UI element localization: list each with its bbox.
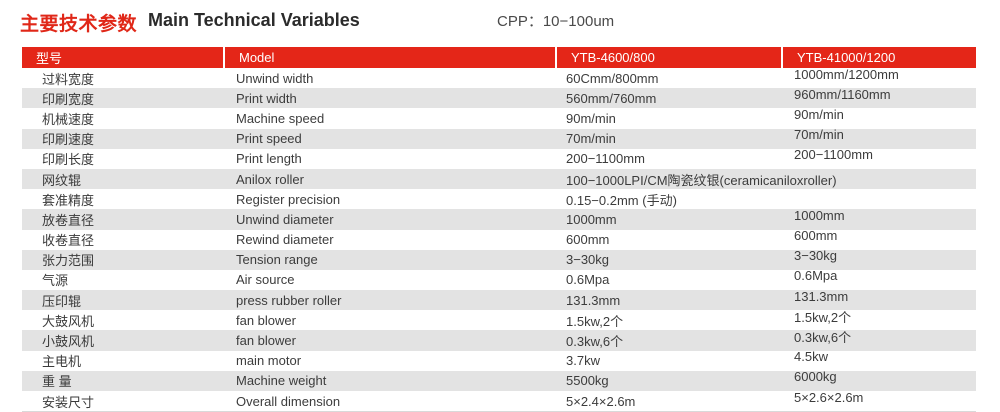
spec-value-model-b: 3−30kg [782, 250, 976, 270]
page-header: 主要技术参数 Main Technical Variables CPP：10−1… [0, 0, 1000, 46]
table-row: 安装尺寸Overall dimension5×2.4×2.6m5×2.6×2.6… [22, 391, 976, 412]
page-title-english: Main Technical Variables [148, 10, 360, 31]
spec-value-model-a-text: 5500kg [556, 373, 782, 388]
spec-name-cn: 印刷速度 [22, 129, 224, 149]
spec-value-model-b-text: 1000mm/1200mm [782, 67, 976, 82]
spec-name-en-text: Air source [224, 272, 556, 287]
spec-value-model-b-text: 0.6Mpa [782, 268, 976, 283]
spec-name-en-text: Register precision [224, 192, 556, 207]
spec-value-model-b-text: 131.3mm [782, 289, 976, 304]
spec-name-en: Print width [224, 88, 556, 108]
spec-name-en: main motor [224, 351, 556, 371]
spec-name-en: Print speed [224, 129, 556, 149]
spec-name-cn-text: 安装尺寸 [22, 392, 224, 411]
table-row: 主电机main motor3.7kw4.5kw [22, 351, 976, 371]
spec-value-model-a-text: 0.6Mpa [556, 272, 782, 287]
spec-value-model-a: 70m/min [556, 129, 782, 149]
spec-name-cn: 气源 [22, 270, 224, 290]
spec-value-model-a: 60Cmm/800mm [556, 68, 782, 88]
spec-name-cn: 机械速度 [22, 108, 224, 128]
spec-value-model-a-text: 1.5kw,2个 [556, 311, 782, 330]
spec-name-cn-text: 主电机 [22, 351, 224, 370]
spec-name-en: Unwind diameter [224, 209, 556, 229]
spec-name-cn: 压印辊 [22, 290, 224, 310]
spec-name-en-text: Print speed [224, 131, 556, 146]
spec-name-en: Machine speed [224, 108, 556, 128]
spec-name-en: fan blower [224, 310, 556, 330]
spec-value-model-a-text: 5×2.4×2.6m [556, 394, 782, 409]
spec-name-en: fan blower [224, 330, 556, 350]
table-header-row: 型号 Model YTB-4600/800 YTB-41000/1200 [22, 47, 976, 68]
spec-name-en: Unwind width [224, 68, 556, 88]
spec-name-cn-text: 压印辊 [22, 291, 224, 310]
spec-value-merged: 0.15−0.2mm (手动) [556, 189, 976, 209]
spec-value-model-a: 90m/min [556, 108, 782, 128]
spec-name-cn: 张力范围 [22, 250, 224, 270]
spec-value-model-b: 0.3kw,6个 [782, 330, 976, 350]
spec-value-model-a-text: 90m/min [556, 111, 782, 126]
table-row: 小鼓风机fan blower0.3kw,6个0.3kw,6个 [22, 330, 976, 350]
table-row: 机械速度Machine speed90m/min90m/min [22, 108, 976, 128]
spec-name-cn: 放卷直径 [22, 209, 224, 229]
spec-value-model-a-text: 560mm/760mm [556, 91, 782, 106]
spec-value-model-a: 200−1100mm [556, 149, 782, 169]
spec-value-model-a: 5500kg [556, 371, 782, 391]
spec-value-model-b: 90m/min [782, 108, 976, 128]
spec-value-model-a-text: 200−1100mm [556, 151, 782, 166]
spec-name-en: Tension range [224, 250, 556, 270]
spec-name-cn: 过料宽度 [22, 68, 224, 88]
spec-name-en: Anilox roller [224, 169, 556, 189]
spec-name-cn-text: 大鼓风机 [22, 311, 224, 330]
spec-name-cn: 收卷直径 [22, 230, 224, 250]
spec-value-model-a: 3.7kw [556, 351, 782, 371]
spec-name-cn: 安装尺寸 [22, 391, 224, 412]
spec-value-model-b-text: 200−1100mm [782, 147, 976, 162]
spec-name-cn: 大鼓风机 [22, 310, 224, 330]
spec-value-model-b-text: 90m/min [782, 107, 976, 122]
spec-value-model-b: 1000mm [782, 209, 976, 229]
spec-name-en-text: Print width [224, 91, 556, 106]
spec-value-model-a: 3−30kg [556, 250, 782, 270]
column-header-model-b: YTB-41000/1200 [782, 47, 976, 68]
spec-name-cn-text: 印刷速度 [22, 129, 224, 148]
spec-name-cn-text: 小鼓风机 [22, 331, 224, 350]
spec-name-cn-text: 网纹辊 [22, 170, 224, 189]
spec-value-model-a: 131.3mm [556, 290, 782, 310]
spec-value-model-b-text: 3−30kg [782, 248, 976, 263]
spec-name-en: Print length [224, 149, 556, 169]
page-title-chinese: 主要技术参数 [20, 9, 137, 36]
spec-value-model-a: 0.6Mpa [556, 270, 782, 290]
spec-value-model-a: 5×2.4×2.6m [556, 391, 782, 412]
spec-value-merged-text: 0.15−0.2mm (手动) [556, 190, 976, 209]
spec-value-model-b: 960mm/1160mm [782, 88, 976, 108]
spec-value-model-b: 6000kg [782, 371, 976, 391]
spec-name-cn-text: 套准精度 [22, 190, 224, 209]
table-row: 重 量Machine weight5500kg6000kg [22, 371, 976, 391]
spec-name-en-text: Rewind diameter [224, 232, 556, 247]
spec-value-model-a: 1000mm [556, 209, 782, 229]
table-row: 套准精度Register precision0.15−0.2mm (手动) [22, 189, 976, 209]
spec-name-cn-text: 放卷直径 [22, 210, 224, 229]
table-row: 放卷直径Unwind diameter1000mm1000mm [22, 209, 976, 229]
spec-name-en-text: Machine weight [224, 373, 556, 388]
spec-name-cn: 主电机 [22, 351, 224, 371]
table-row: 张力范围Tension range3−30kg3−30kg [22, 250, 976, 270]
material-note: CPP：10−100um [497, 10, 614, 31]
spec-value-model-a-text: 3.7kw [556, 353, 782, 368]
spec-value-model-b-text: 1000mm [782, 208, 976, 223]
spec-value-merged-text: 100−1000LPI/CM陶瓷纹银(ceramicaniloxroller) [556, 170, 976, 189]
spec-name-cn-text: 过料宽度 [22, 69, 224, 88]
spec-value-merged: 100−1000LPI/CM陶瓷纹银(ceramicaniloxroller) [556, 169, 976, 189]
table-row: 印刷速度Print speed70m/min70m/min [22, 129, 976, 149]
spec-name-en-text: Machine speed [224, 111, 556, 126]
spec-value-model-a: 1.5kw,2个 [556, 310, 782, 330]
table-row: 过料宽度Unwind width60Cmm/800mm1000mm/1200mm [22, 68, 976, 88]
table-body: 过料宽度Unwind width60Cmm/800mm1000mm/1200mm… [22, 68, 976, 412]
spec-value-model-b-text: 960mm/1160mm [782, 87, 976, 102]
spec-value-model-a-text: 70m/min [556, 131, 782, 146]
spec-name-cn: 小鼓风机 [22, 330, 224, 350]
spec-name-cn-text: 收卷直径 [22, 230, 224, 249]
spec-value-model-b: 70m/min [782, 129, 976, 149]
spec-name-cn-text: 气源 [22, 270, 224, 289]
spec-name-cn-text: 重 量 [22, 371, 224, 390]
spec-value-model-b-text: 1.5kw,2个 [782, 307, 976, 326]
table-row: 收卷直径Rewind diameter600mm600mm [22, 230, 976, 250]
spec-name-cn: 印刷长度 [22, 149, 224, 169]
column-header-name-en: Model [224, 47, 556, 68]
spec-value-model-b: 0.6Mpa [782, 270, 976, 290]
spec-name-cn-text: 机械速度 [22, 109, 224, 128]
spec-value-model-b: 5×2.6×2.6m [782, 391, 976, 412]
spec-value-model-b-text: 6000kg [782, 369, 976, 384]
spec-sheet-page: 主要技术参数 Main Technical Variables CPP：10−1… [0, 0, 1000, 400]
spec-value-model-b: 200−1100mm [782, 149, 976, 169]
spec-name-en-text: fan blower [224, 333, 556, 348]
spec-name-en: Rewind diameter [224, 230, 556, 250]
spec-name-en: Machine weight [224, 371, 556, 391]
spec-name-cn: 网纹辊 [22, 169, 224, 189]
spec-value-model-a-text: 60Cmm/800mm [556, 71, 782, 86]
table-row: 气源Air source0.6Mpa0.6Mpa [22, 270, 976, 290]
spec-value-model-b-text: 600mm [782, 228, 976, 243]
spec-name-en-text: main motor [224, 353, 556, 368]
spec-name-cn-text: 张力范围 [22, 250, 224, 269]
spec-value-model-b-text: 4.5kw [782, 349, 976, 364]
spec-name-en-text: Tension range [224, 252, 556, 267]
table-row: 印刷宽度Print width560mm/760mm960mm/1160mm [22, 88, 976, 108]
spec-name-cn: 重 量 [22, 371, 224, 391]
spec-name-en: press rubber roller [224, 290, 556, 310]
spec-value-model-a-text: 1000mm [556, 212, 782, 227]
spec-name-en-text: Unwind diameter [224, 212, 556, 227]
spec-value-model-a-text: 600mm [556, 232, 782, 247]
spec-value-model-a: 560mm/760mm [556, 88, 782, 108]
spec-value-model-a: 0.3kw,6个 [556, 330, 782, 350]
spec-value-model-b-text: 5×2.6×2.6m [782, 390, 976, 405]
spec-name-en-text: fan blower [224, 313, 556, 328]
spec-name-en: Air source [224, 270, 556, 290]
spec-value-model-a: 600mm [556, 230, 782, 250]
column-header-model-a: YTB-4600/800 [556, 47, 782, 68]
spec-value-model-b-text: 70m/min [782, 127, 976, 142]
spec-name-en-text: press rubber roller [224, 293, 556, 308]
spec-value-model-a-text: 131.3mm [556, 293, 782, 308]
table-row: 印刷长度Print length200−1100mm200−1100mm [22, 149, 976, 169]
column-header-name-cn: 型号 [22, 47, 224, 68]
spec-name-cn-text: 印刷宽度 [22, 89, 224, 108]
spec-value-model-b: 4.5kw [782, 351, 976, 371]
spec-name-en-text: Anilox roller [224, 172, 556, 187]
spec-name-en-text: Overall dimension [224, 394, 556, 409]
spec-value-model-b: 1000mm/1200mm [782, 68, 976, 88]
spec-name-cn: 印刷宽度 [22, 88, 224, 108]
spec-value-model-b: 600mm [782, 230, 976, 250]
spec-name-en-text: Unwind width [224, 71, 556, 86]
spec-value-model-a-text: 3−30kg [556, 252, 782, 267]
spec-name-en: Register precision [224, 189, 556, 209]
table-row: 网纹辊Anilox roller100−1000LPI/CM陶瓷纹银(ceram… [22, 169, 976, 189]
spec-value-model-b-text: 0.3kw,6个 [782, 327, 976, 346]
spec-name-cn-text: 印刷长度 [22, 149, 224, 168]
spec-value-model-a-text: 0.3kw,6个 [556, 331, 782, 350]
spec-name-en: Overall dimension [224, 391, 556, 412]
spec-name-cn: 套准精度 [22, 189, 224, 209]
specifications-table: 型号 Model YTB-4600/800 YTB-41000/1200 过料宽… [22, 47, 976, 412]
spec-name-en-text: Print length [224, 151, 556, 166]
